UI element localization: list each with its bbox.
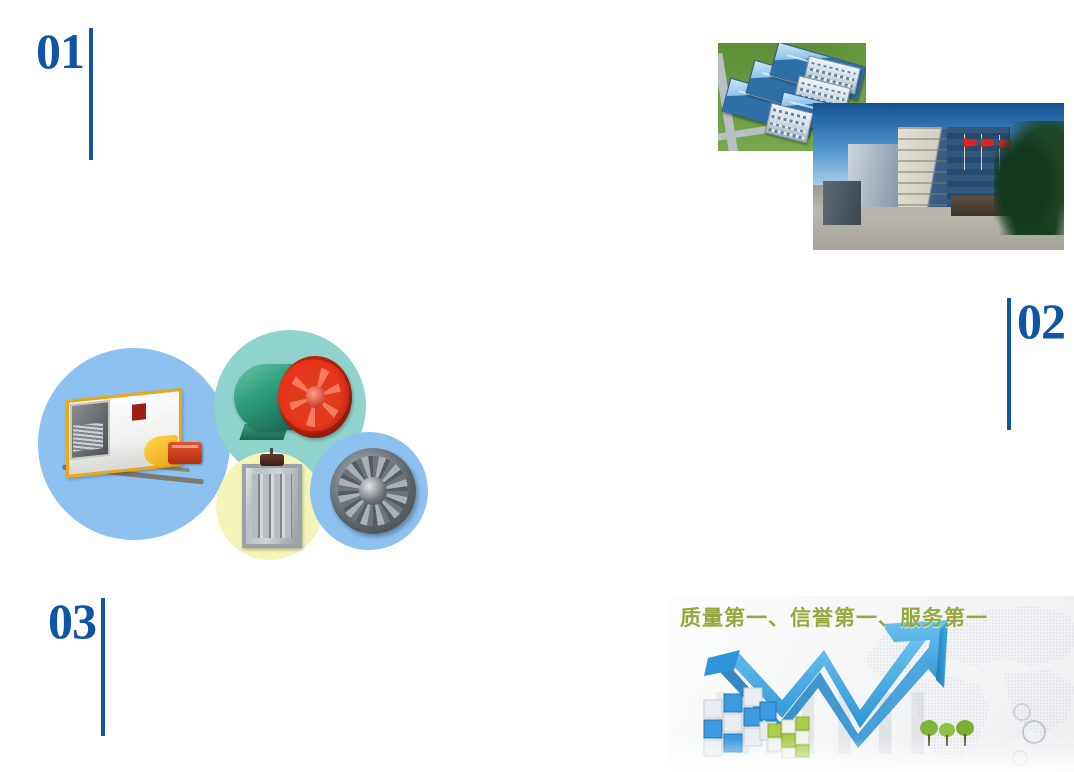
section-marker-01: 01 xyxy=(36,28,93,160)
section-number-01: 01 xyxy=(36,28,84,76)
section-number-03: 03 xyxy=(48,598,96,646)
air-damper-valve xyxy=(242,464,302,548)
section-marker-02: 02 xyxy=(1007,298,1065,430)
fan-control-panel xyxy=(132,403,146,420)
damper-actuator xyxy=(260,454,284,466)
section-rule-02 xyxy=(1007,298,1011,430)
section-rule-03 xyxy=(101,598,105,736)
product-collage xyxy=(38,322,428,554)
fan-red-motor xyxy=(168,442,202,464)
metal-turbo-axial-fan xyxy=(330,448,416,534)
office-building-photo xyxy=(813,103,1064,250)
page-root: 01 02 xyxy=(0,0,1074,772)
green-red-axial-flow-fan xyxy=(234,356,352,452)
fan-impeller xyxy=(73,422,103,451)
banner-slogan: 质量第一、信誉第一、服务第一 xyxy=(680,602,988,632)
banner-floor-reflection xyxy=(668,738,1074,772)
turbo-fan-hub xyxy=(359,477,387,505)
section-number-02: 02 xyxy=(1017,298,1065,346)
photo-building-floors xyxy=(898,127,947,208)
photo-trees xyxy=(994,121,1064,236)
section-marker-03: 03 xyxy=(48,598,105,736)
growth-arrow-banner: 质量第一、信誉第一、服务第一 xyxy=(668,596,1074,772)
cabinet-centrifugal-fan-unit xyxy=(56,394,206,494)
damper-blades xyxy=(252,474,292,538)
damper-frame xyxy=(242,464,302,548)
photo-gatehouse xyxy=(823,181,861,225)
section-rule-01 xyxy=(89,28,93,160)
axial-fan-red-impeller xyxy=(278,356,352,438)
